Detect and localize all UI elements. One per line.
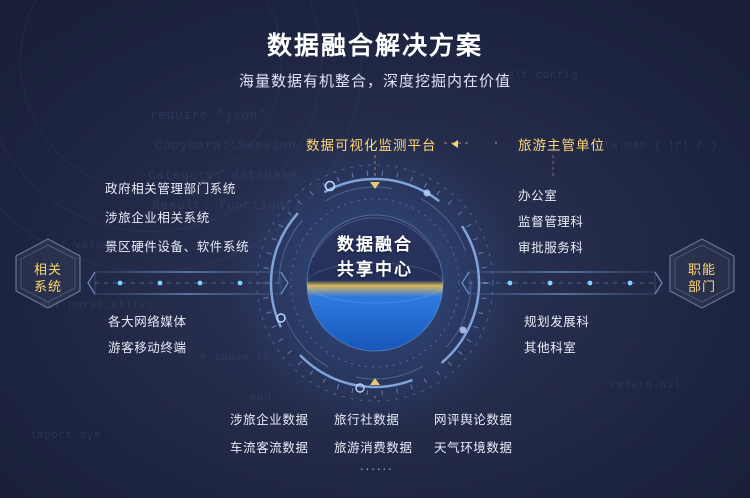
hex-left-line1: 相关 [34,262,62,277]
diagram-canvas: require "json" Capybara::Session Categor… [0,0,750,498]
left-top-item-0: 政府相关管理部门系统 [105,178,236,197]
right-top-item-1: 监督管理科 [518,211,584,230]
marker-top-icon [370,182,380,189]
bottom-item-1-0: 车流客流数据 [230,437,309,456]
label-tourism-authority: 旅游主管单位 [518,134,605,154]
core-node: 数据融合 共享中心 [277,166,473,362]
bottom-ellipsis: ...... [360,458,394,473]
bottom-item-1-1: 旅游消费数据 [334,437,413,456]
right-bottom-item-0: 规划发展科 [524,311,590,330]
left-top-item-2: 景区硬件设备、软件系统 [105,236,249,255]
left-top-item-1: 涉旅企业相关系统 [105,207,210,226]
marker-bottom-icon [370,378,380,385]
core-line1: 数据融合 [337,235,413,254]
bottom-item-0-0: 涉旅企业数据 [230,409,309,428]
hex-right-functional-departments: 职能 部门 [665,236,739,320]
arrow-left-icon [452,140,458,148]
core-line2: 共享中心 [337,260,413,279]
hex-right-line1: 职能 [688,262,716,277]
right-top-item-0: 办公室 [518,185,557,204]
bottom-item-0-1: 旅行社数据 [334,409,400,428]
hex-left-related-systems: 相关 系统 [11,236,85,320]
right-bottom-item-1: 其他科室 [524,337,576,356]
left-bottom-item-1: 游客移动终端 [108,337,187,356]
hex-left-line2: 系统 [34,279,62,294]
bottom-item-1-2: 天气环境数据 [434,437,513,456]
right-top-item-2: 审批服务科 [518,237,584,256]
hex-right-line2: 部门 [688,279,716,294]
label-visualization-platform: 数据可视化监测平台 [306,134,437,154]
left-bottom-item-0: 各大网络媒体 [108,311,187,330]
dot-separator: · [494,135,500,149]
bottom-item-0-2: 网评舆论数据 [434,409,513,428]
